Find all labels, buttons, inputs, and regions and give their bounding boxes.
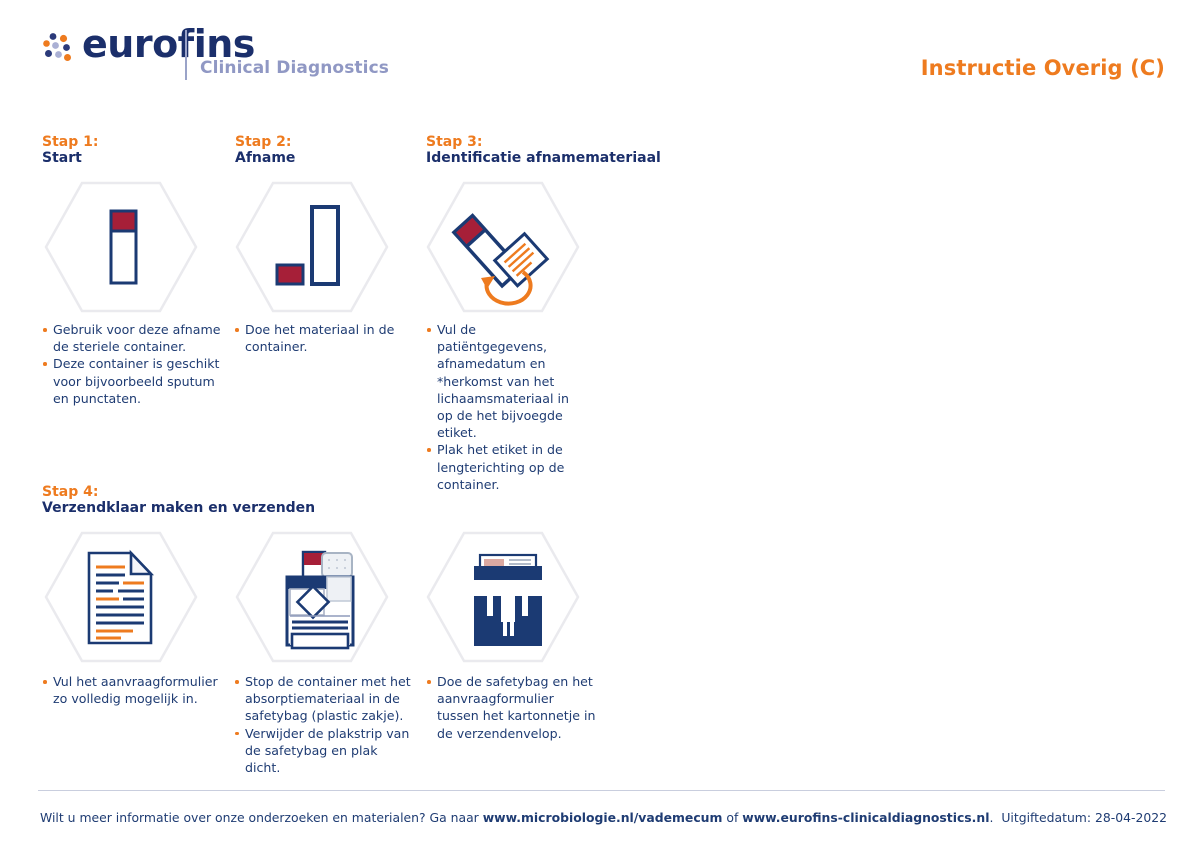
list-item: Vul de patiëntgegevens, afnamedatum en *… xyxy=(426,321,586,441)
step-2-title: Afname xyxy=(235,150,295,167)
step-4-item-1-bullets: Vul het aanvraagformulier zo volledig mo… xyxy=(42,673,228,707)
sterile-container-closed-icon xyxy=(43,180,199,315)
page-title: Instructie Overig (C) xyxy=(921,56,1165,80)
eurofins-dots-logo-icon xyxy=(42,32,76,66)
footer-text-before: Wilt u meer informatie over onze onderzo… xyxy=(40,810,483,825)
list-item: Verwijder de plakstrip van de safetybag … xyxy=(234,725,416,777)
step-3-title: Identificatie afnamemateriaal xyxy=(426,150,661,167)
list-item: Gebruik voor deze afname de steriele con… xyxy=(42,321,228,355)
footer-divider xyxy=(38,790,1165,791)
step-4-title: Verzendklaar maken en verzenden xyxy=(42,500,315,517)
logo-subtitle: Clinical Diagnostics xyxy=(200,58,389,78)
shipping-envelope-icon xyxy=(425,530,581,665)
list-item: Stop de container met het absorptiemater… xyxy=(234,673,416,725)
safetybag-with-container-icon xyxy=(234,530,390,665)
step-4-heading: Stap 4: Verzendklaar maken en verzenden xyxy=(42,484,315,517)
instruction-sheet-page: eurofins Clinical Diagnostics Instructie… xyxy=(0,0,1203,852)
issue-date: Uitgiftedatum: 28-04-2022 xyxy=(1001,810,1167,825)
step-2-number: Stap 2: xyxy=(235,134,295,150)
footer-info-text: Wilt u meer informatie over onze onderzo… xyxy=(40,810,993,825)
step-4-item-3-bullets: Doe de safetybag en het aanvraagformulie… xyxy=(426,673,596,742)
list-item: Plak het etiket in de lengterichting op … xyxy=(426,441,586,493)
step-3-bullets: Vul de patiëntgegevens, afnamedatum en *… xyxy=(426,321,586,493)
footer-link-microbiologie[interactable]: www.microbiologie.nl/vademecum xyxy=(483,810,723,825)
label-container-rotate-icon xyxy=(425,180,581,315)
page-header: eurofins Clinical Diagnostics Instructie… xyxy=(0,0,1203,105)
step-1-number: Stap 1: xyxy=(42,134,98,150)
logo-divider xyxy=(185,30,187,80)
step-2-bullets: Doe het materiaal in de container. xyxy=(234,321,420,355)
step-3-number: Stap 3: xyxy=(426,134,661,150)
step-4-number: Stap 4: xyxy=(42,484,315,500)
list-item: Vul het aanvraagformulier zo volledig mo… xyxy=(42,673,228,707)
step-1-heading: Stap 1: Start xyxy=(42,134,98,167)
list-item: Deze container is geschikt voor bijvoorb… xyxy=(42,355,228,407)
step-2-heading: Stap 2: Afname xyxy=(235,134,295,167)
step-1-bullets: Gebruik voor deze afname de steriele con… xyxy=(42,321,228,407)
list-item: Doe het materiaal in de container. xyxy=(234,321,420,355)
list-item: Doe de safetybag en het aanvraagformulie… xyxy=(426,673,596,742)
request-form-document-icon xyxy=(43,530,199,665)
step-1-title: Start xyxy=(42,150,98,167)
footer-text-middle: of xyxy=(722,810,742,825)
container-open-with-cap-icon xyxy=(234,180,390,315)
footer-link-eurofins[interactable]: www.eurofins-clinicaldiagnostics.nl xyxy=(742,810,989,825)
step-3-heading: Stap 3: Identificatie afnamemateriaal xyxy=(426,134,661,167)
footer-text-after: . xyxy=(989,810,993,825)
step-4-item-2-bullets: Stop de container met het absorptiemater… xyxy=(234,673,416,776)
